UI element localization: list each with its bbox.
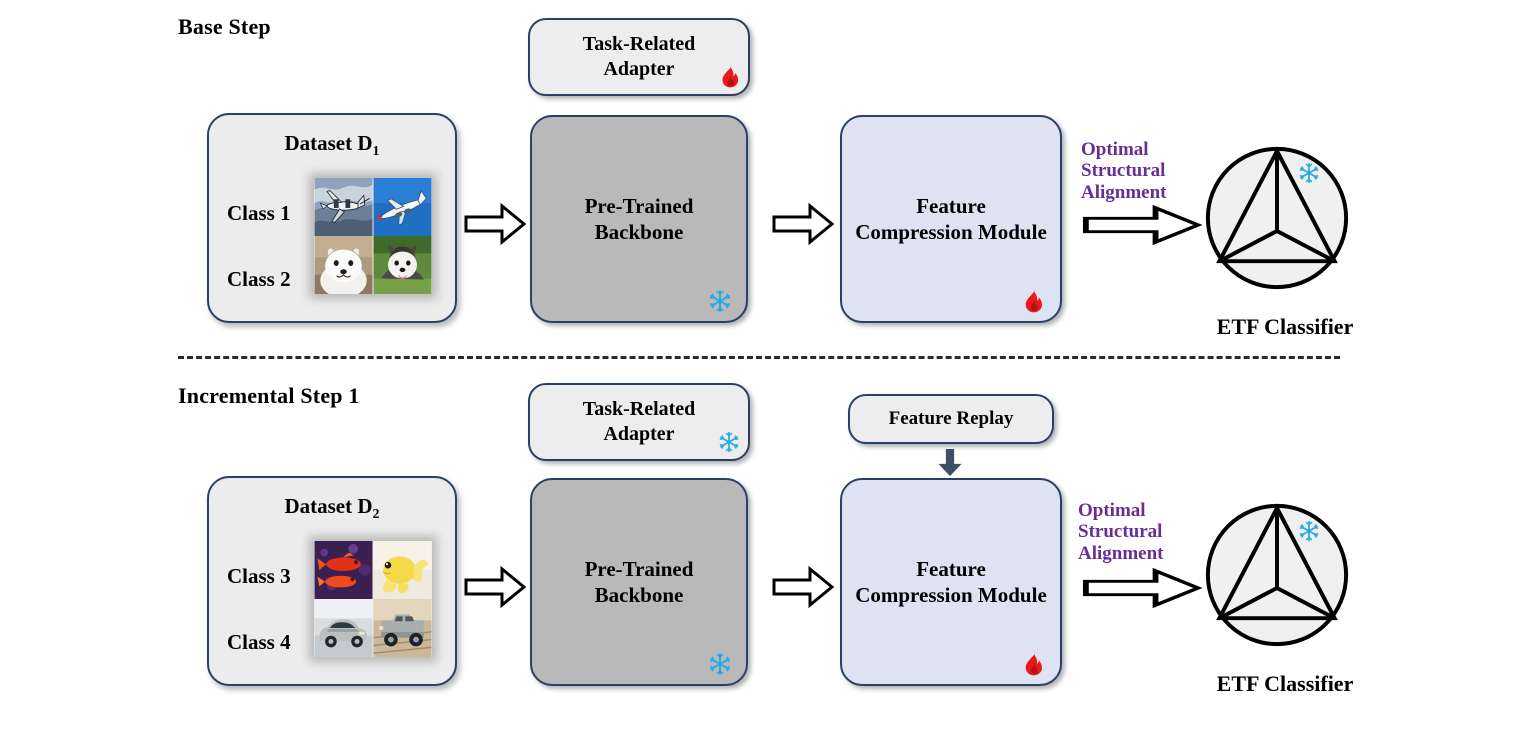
pretrained-backbone-box-incremental[interactable]: Pre-Trained Backbone [530, 478, 748, 686]
etf-classifier-diagram-incremental[interactable] [1205, 503, 1349, 647]
class-image-grid-incremental [314, 541, 432, 657]
snowflake-icon [718, 431, 740, 453]
dataset-title-base: Dataset D1 [209, 131, 455, 160]
class-label-1: Class 1 [227, 201, 291, 226]
block-arrow-right-icon-6 [1082, 568, 1202, 608]
etf-classifier-caption-incremental: ETF Classifier [1205, 671, 1365, 697]
class-label-3: Class 3 [227, 564, 291, 589]
adapter-label-incremental: Task-Related Adapter [583, 397, 696, 447]
dataset-panel-base[interactable]: Dataset D1 Class 1 Class 2 [207, 113, 457, 323]
solid-arrow-down-icon [937, 449, 963, 477]
dataset-title-incremental: Dataset D2 [209, 494, 455, 523]
thumb-husky-dog-running-on-grass [373, 236, 432, 294]
feature-compression-module-box-incremental[interactable]: Feature Compression Module [840, 478, 1062, 686]
feature-replay-box[interactable]: Feature Replay [848, 394, 1054, 444]
backbone-label-base: Pre-Trained Backbone [585, 193, 694, 246]
thumb-white-pomeranian-dog [314, 236, 373, 294]
snowflake-icon [708, 289, 732, 313]
compression-label-incremental: Feature Compression Module [855, 556, 1047, 609]
block-arrow-right-icon-1 [464, 203, 526, 245]
thumb-jet-airliner-on-blue-sky [373, 178, 432, 236]
class-label-4: Class 4 [227, 630, 291, 655]
thumb-propeller-airplane-in-clouds [314, 178, 373, 236]
block-arrow-right-icon-3 [1082, 205, 1202, 245]
adapter-label-base: Task-Related Adapter [583, 32, 696, 82]
class-label-2: Class 2 [227, 267, 291, 292]
optimal-structural-alignment-label-base: Optimal Structural Alignment [1081, 139, 1167, 203]
etf-classifier-caption-base: ETF Classifier [1205, 314, 1365, 340]
backbone-label-incremental: Pre-Trained Backbone [585, 556, 694, 609]
block-arrow-right-icon-2 [772, 203, 834, 245]
pretrained-backbone-box-base[interactable]: Pre-Trained Backbone [530, 115, 748, 323]
section-divider [178, 356, 1340, 359]
figure-canvas: Base Step Task-Related Adapter Dataset D… [0, 0, 1535, 752]
block-arrow-right-icon-4 [464, 566, 526, 608]
etf-classifier-diagram-base[interactable] [1205, 146, 1349, 290]
thumb-silver-suv-car [314, 599, 373, 657]
thumb-grey-offroad-jeep [373, 599, 432, 657]
flame-icon [720, 63, 740, 88]
snowflake-icon [1298, 162, 1320, 184]
flame-icon [1023, 287, 1044, 313]
flame-icon [1023, 650, 1044, 676]
class-image-grid-base [314, 178, 432, 294]
block-arrow-right-icon-5 [772, 566, 834, 608]
optimal-structural-alignment-label-incremental: Optimal Structural Alignment [1078, 500, 1164, 564]
snowflake-icon [708, 652, 732, 676]
base-step-title: Base Step [178, 14, 271, 40]
incremental-step-title: Incremental Step 1 [178, 383, 360, 409]
compression-label-base: Feature Compression Module [855, 193, 1047, 246]
snowflake-icon [1298, 520, 1320, 542]
task-related-adapter-box-base[interactable]: Task-Related Adapter [528, 18, 750, 96]
thumb-yellow-goldfish [373, 541, 432, 599]
dataset-panel-incremental[interactable]: Dataset D2 Class 3 Class 4 [207, 476, 457, 686]
thumb-red-goldfish-in-aquarium [314, 541, 373, 599]
task-related-adapter-box-incremental[interactable]: Task-Related Adapter [528, 383, 750, 461]
feature-replay-label: Feature Replay [889, 407, 1014, 431]
feature-compression-module-box-base[interactable]: Feature Compression Module [840, 115, 1062, 323]
